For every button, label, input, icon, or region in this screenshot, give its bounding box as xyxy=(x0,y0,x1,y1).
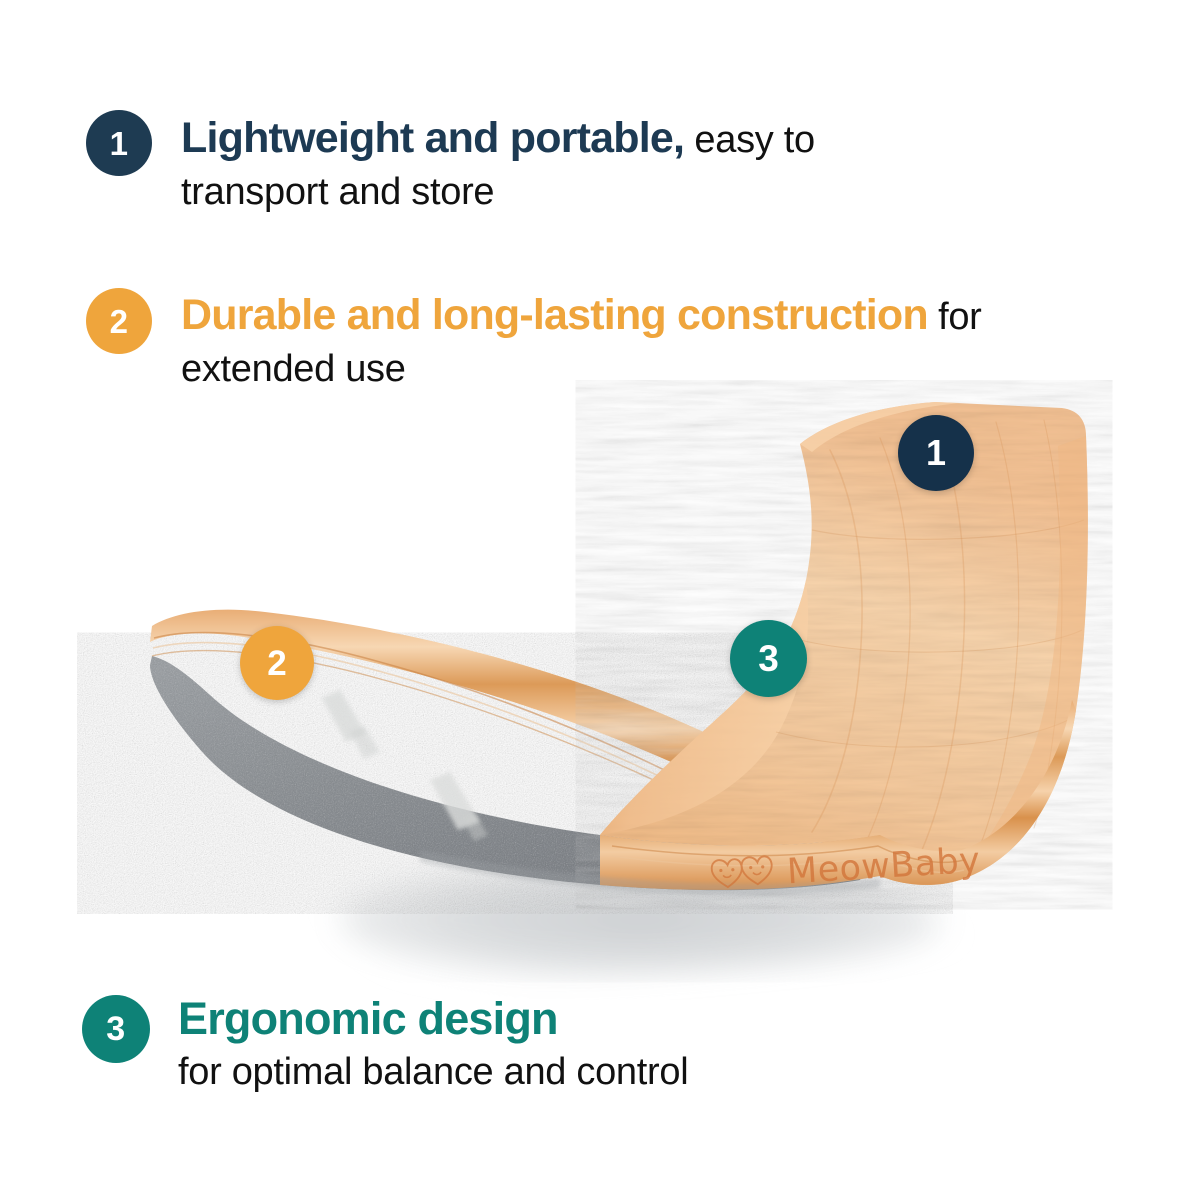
cat-hearts-icon xyxy=(705,850,784,901)
feature-text-1: Lightweight and portable, easy to transp… xyxy=(181,109,971,219)
infographic-canvas: 1 Lightweight and portable, easy to tran… xyxy=(0,0,1200,1200)
product-image: MeowBaby xyxy=(0,380,1200,1000)
feature-item-3: 3 Ergonomic designfor optimal balance an… xyxy=(82,995,938,1097)
feature-item-1: 1 Lightweight and portable, easy to tran… xyxy=(86,110,971,219)
feature-badge-2: 2 xyxy=(86,288,152,354)
product-marker-2: 2 xyxy=(240,626,314,700)
wood-board xyxy=(600,402,1088,890)
product-marker-1: 1 xyxy=(898,415,974,491)
feature-lead-1: Lightweight and portable, xyxy=(181,114,684,162)
feature-lead-2: Durable and long-lasting construction xyxy=(181,291,928,339)
brand-wordmark: MeowBaby xyxy=(786,841,981,893)
feature-badge-3: 3 xyxy=(82,995,150,1063)
feature-badge-1: 1 xyxy=(86,110,152,176)
feature-text-3: Ergonomic designfor optimal balance and … xyxy=(178,992,938,1097)
product-marker-3: 3 xyxy=(730,620,807,697)
feature-rest-3: for optimal balance and control xyxy=(178,1049,938,1097)
feature-lead-3: Ergonomic design xyxy=(178,992,938,1047)
